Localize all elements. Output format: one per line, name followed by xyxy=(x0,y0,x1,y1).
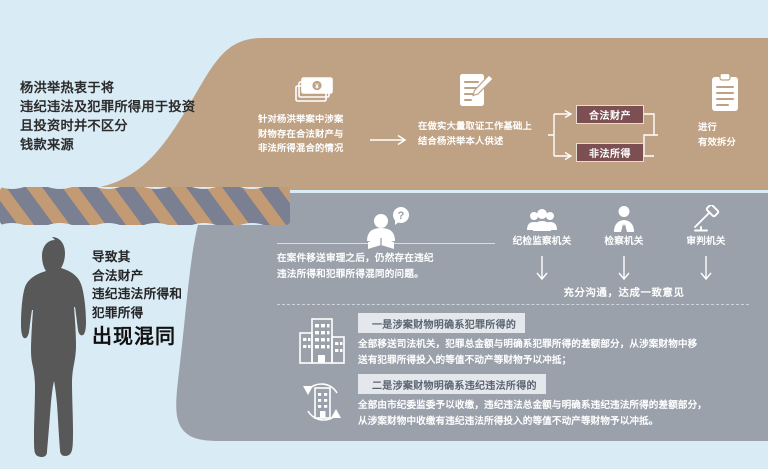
top-left-line-3: 且投资时并不区分 xyxy=(20,116,250,135)
authority-label-0: 纪检监察机关 xyxy=(500,233,584,247)
authority-down-arrows-icon xyxy=(500,256,748,284)
flow-step-1-text: 针对杨洪举案中涉案 财物存在合法财产与 非法所得混合的情况 xyxy=(258,112,343,156)
person-silhouette xyxy=(8,232,104,462)
question-line2: 违法所得和犯罪所得混同的问题。 xyxy=(277,267,495,283)
person-reading-question-icon: ? xyxy=(355,207,415,251)
mid-left-line-2: 合法财产 xyxy=(92,267,262,286)
person-suit-icon xyxy=(611,205,637,233)
building-recycle-icon xyxy=(296,376,348,428)
top-left-line-2: 违纪违法及犯罪所得用于投资 xyxy=(20,97,250,116)
mid-left-line-3: 违纪违法所得和 xyxy=(92,285,262,304)
authority-label-1: 检察机关 xyxy=(582,233,666,247)
info-box-1: 一是涉案财物明确系犯罪所得的 全部移送司法机关，犯罪总金额与明确系犯罪所得的差额… xyxy=(296,313,756,368)
flow-arrow-1-icon xyxy=(370,134,412,146)
classification-split: 合法财产 非法所得 xyxy=(548,100,658,170)
question-line1: 在案件移送审理之后，仍然存在违纪 xyxy=(277,251,495,267)
building-icon xyxy=(296,315,348,367)
svg-text:¥: ¥ xyxy=(315,84,319,91)
top-left-line-4: 钱款来源 xyxy=(20,135,250,154)
clipboard-icon xyxy=(708,72,744,114)
flow2-line1: 在做实大量取证工作基础上 xyxy=(418,119,532,134)
info-box-1-heading: 一是涉案财物明确系犯罪所得的 xyxy=(358,313,525,333)
authority-consensus-text: 充分沟通，达成一致意见 xyxy=(500,284,748,299)
group-people-icon xyxy=(525,209,559,233)
group-people-icon-wrap xyxy=(500,205,584,233)
person-suit-icon-wrap xyxy=(582,205,666,233)
info-box-2-text: 全部由市纪委监委予以收缴，违纪违法总金额与明确系违纪违法所得的差额部分， 从涉案… xyxy=(358,398,756,429)
money-stack-icon: ¥ xyxy=(294,72,338,106)
mid-left-line-1: 导致其 xyxy=(92,248,262,267)
mid-left-statement: 导致其 合法财产 违纪违法所得和 犯罪所得 出现混同 xyxy=(92,248,262,350)
info1-line2: 送有犯罪所得投入的等值不动产等财物予以冲抵； xyxy=(358,353,756,369)
info-box-2-heading: 二是涉案财物明确系违纪违法所得的 xyxy=(358,374,546,394)
flow-step-2-text: 在做实大量取证工作基础上 结合杨洪举本人供述 xyxy=(418,119,532,148)
flow1-line2: 财物存在合法财产与 xyxy=(258,127,343,142)
authority-discipline-inspection[interactable]: 纪检监察机关 xyxy=(500,205,584,247)
flow-step-1: ¥ 针对杨洪举案中涉案 财物存在合法财产与 非法所得混合的情况 xyxy=(258,112,343,156)
twisted-rope-graphic xyxy=(0,182,290,230)
info2-line2: 从涉案财物中收缴有违纪违法所得投入的等值不动产等财物予以冲抵。 xyxy=(358,414,756,430)
info-box-2: 二是涉案财物明确系违纪违法所得的 全部由市纪委监委予以收缴，违纪违法总金额与明确… xyxy=(296,374,756,429)
info-box-2-body: 二是涉案财物明确系违纪违法所得的 全部由市纪委监委予以收缴，违纪违法总金额与明确… xyxy=(358,374,756,429)
question-text: 在案件移送审理之后，仍然存在违纪 违法所得和犯罪所得混同的问题。 xyxy=(277,251,495,282)
flow2-line2: 结合杨洪举本人供述 xyxy=(418,134,532,149)
flow1-line1: 针对杨洪举案中涉案 xyxy=(258,112,343,127)
authority-court[interactable]: 审判机关 xyxy=(664,205,748,247)
split-option-illegal[interactable]: 非法所得 xyxy=(576,143,644,162)
infographic-canvas: 杨洪举热衷于将 违纪违法及犯罪所得用于投资 且投资时并不区分 钱款来源 xyxy=(0,0,768,469)
section-dashed-divider xyxy=(277,304,749,305)
mid-left-emphasis: 出现混同 xyxy=(92,324,262,350)
authority-procuratorate[interactable]: 检察机关 xyxy=(582,205,666,247)
flow-result-line1: 进行 xyxy=(698,120,736,135)
split-option-legal[interactable]: 合法财产 xyxy=(576,105,644,124)
info1-line1: 全部移送司法机关，犯罪总金额与明确系犯罪所得的差额部分，从涉案财物中移 xyxy=(358,337,756,353)
info-box-1-text: 全部移送司法机关，犯罪总金额与明确系犯罪所得的差额部分，从涉案财物中移 送有犯罪… xyxy=(358,337,756,368)
flow1-line3: 非法所得混合的情况 xyxy=(258,141,343,156)
flow-step-2: 在做实大量取证工作基础上 结合杨洪举本人供述 xyxy=(418,119,532,148)
gavel-icon-wrap xyxy=(664,205,748,233)
svg-text:?: ? xyxy=(398,210,405,222)
flow-result-text: 进行 有效拆分 xyxy=(698,120,736,149)
info2-line1: 全部由市纪委监委予以收缴，违纪违法总金额与明确系违纪违法所得的差额部分， xyxy=(358,398,756,414)
top-left-line-1: 杨洪举热衷于将 xyxy=(20,78,250,97)
mid-left-line-4: 犯罪所得 xyxy=(92,304,262,323)
info-box-1-body: 一是涉案财物明确系犯罪所得的 全部移送司法机关，犯罪总金额与明确系犯罪所得的差额… xyxy=(358,313,756,368)
flow-result-line2: 有效拆分 xyxy=(698,135,736,150)
top-left-statement: 杨洪举热衷于将 违纪违法及犯罪所得用于投资 且投资时并不区分 钱款来源 xyxy=(20,78,250,154)
authority-label-2: 审判机关 xyxy=(664,233,748,247)
gavel-icon xyxy=(691,205,721,233)
flow-result: 进行 有效拆分 xyxy=(698,120,736,149)
pending-question-block: ? 在案件移送审理之后，仍然存在违纪 违法所得和犯罪所得混同的问题。 xyxy=(277,207,495,282)
document-pen-icon xyxy=(456,71,496,111)
